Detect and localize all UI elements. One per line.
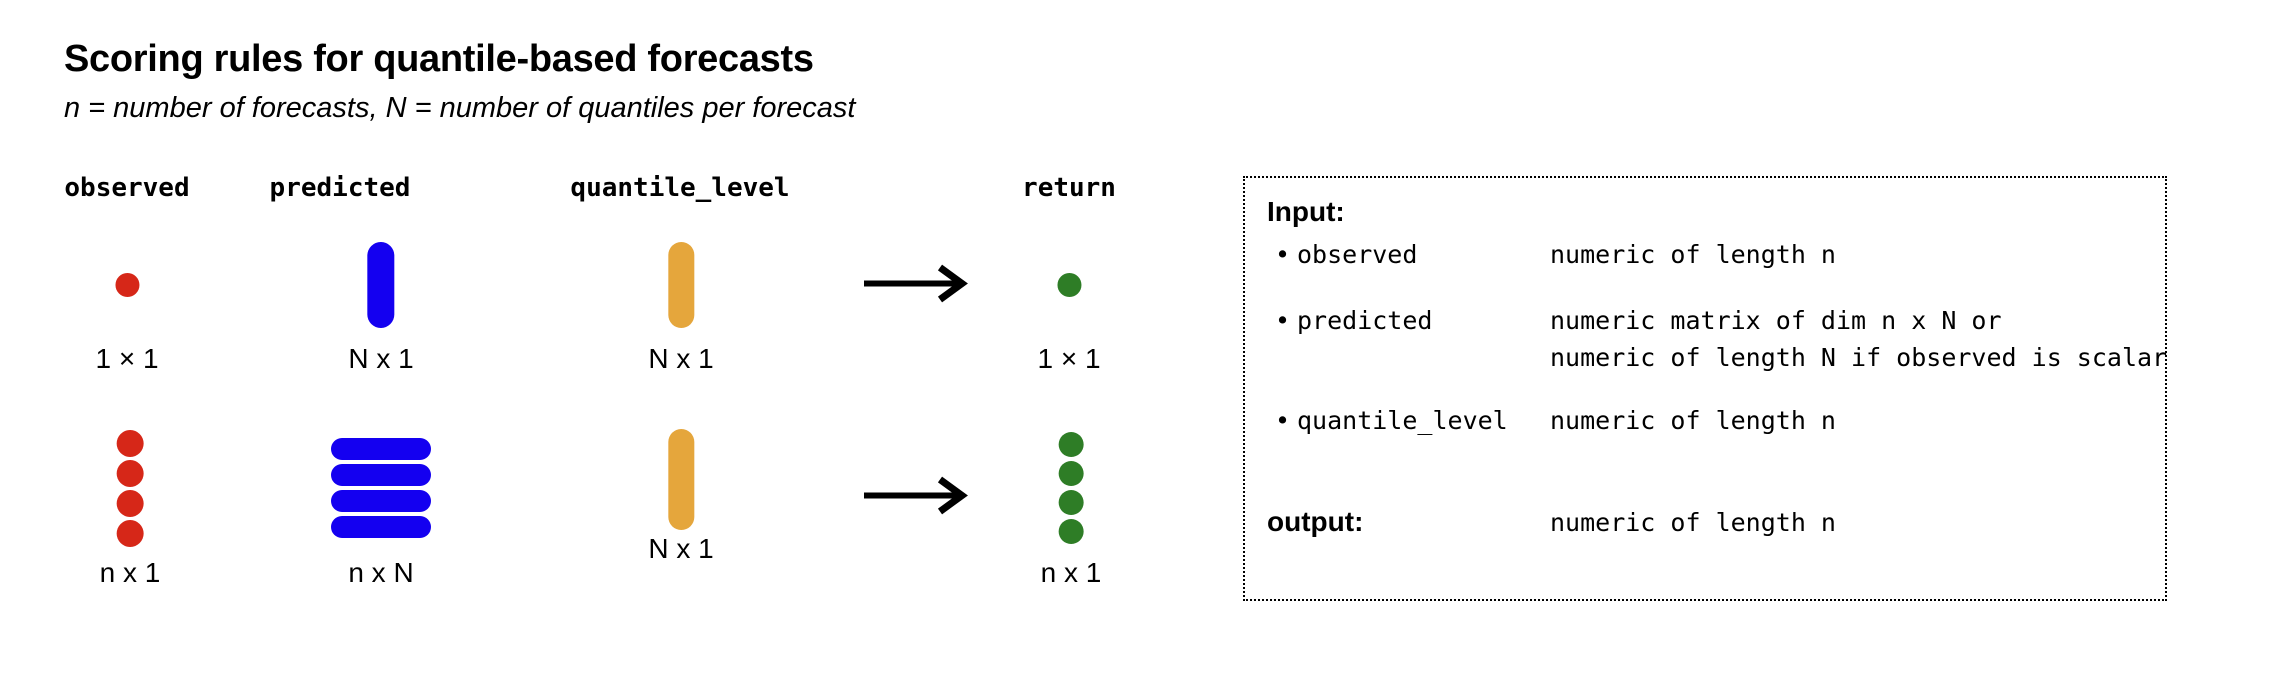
legend-input-heading: Input: xyxy=(1267,196,1345,228)
return-dot xyxy=(1058,432,1083,457)
row-2-arrow xyxy=(864,476,974,521)
row-1-arrow xyxy=(864,264,974,309)
legend-desc-predicted-line-2: numeric of length N if observed is scala… xyxy=(1550,343,2167,372)
legend-desc-predicted-line-1: numeric matrix of dim n x N or xyxy=(1550,306,2002,335)
row-2-quantile-level-shape xyxy=(668,428,694,531)
observed-dot xyxy=(116,520,143,547)
row-1-predicted-cell: N x 1 xyxy=(348,240,413,375)
legend-desc-quantile-level: numeric of length n xyxy=(1550,406,1836,435)
legend-term-observed: observed xyxy=(1297,240,1417,269)
row-1-return-shape xyxy=(1057,240,1081,330)
row-2-predicted-cell: n x N xyxy=(331,428,431,589)
quantile-level-bar xyxy=(668,429,694,530)
predicted-bar xyxy=(367,242,394,328)
legend-output-heading: output: xyxy=(1267,506,1363,538)
return-dot-stack xyxy=(1058,432,1083,544)
observed-dot xyxy=(116,460,143,487)
row-1-quantile-level-shape xyxy=(668,240,694,330)
row-1-quantile-level-label: N x 1 xyxy=(648,343,713,375)
legend-term-quantile-level: quantile_level xyxy=(1297,406,1508,435)
row-2-quantile-level-label: N x 1 xyxy=(648,533,713,565)
legend-desc-observed: numeric of length n xyxy=(1550,240,1836,269)
predicted-bar xyxy=(331,516,431,538)
row-1-observed-shape xyxy=(115,240,139,330)
row-2-return-cell: n x 1 xyxy=(1041,428,1102,589)
row-1-predicted-shape xyxy=(367,240,394,330)
row-2-predicted-label: n x N xyxy=(348,557,413,589)
predicted-bar-stack xyxy=(331,438,431,538)
legend-bullet: • xyxy=(1275,406,1290,435)
row-2-predicted-shape xyxy=(331,428,431,548)
row-1-observed-cell: 1 × 1 xyxy=(95,240,158,375)
row-2-return-shape xyxy=(1058,428,1083,548)
observed-dot xyxy=(116,430,143,457)
legend-box: Input: • observed numeric of length n • … xyxy=(1243,176,2167,601)
column-header-return: return xyxy=(1022,173,1116,203)
page-subtitle: n = number of forecasts, N = number of q… xyxy=(64,92,855,125)
return-dot xyxy=(1058,490,1083,515)
legend-term-predicted: predicted xyxy=(1297,306,1432,335)
observed-dot-stack xyxy=(116,430,143,547)
observed-dot xyxy=(115,273,139,297)
return-dot xyxy=(1058,519,1083,544)
diagram-canvas: Scoring rules for quantile-based forecas… xyxy=(0,0,2292,694)
predicted-bar xyxy=(331,490,431,512)
column-header-predicted: predicted xyxy=(270,173,411,203)
predicted-bar xyxy=(331,464,431,486)
row-1-observed-label: 1 × 1 xyxy=(95,343,158,375)
predicted-bar xyxy=(331,438,431,460)
row-2-observed-label: n x 1 xyxy=(100,557,161,589)
observed-dot xyxy=(116,490,143,517)
row-2-return-label: n x 1 xyxy=(1041,557,1102,589)
legend-bullet: • xyxy=(1275,240,1290,269)
row-1-predicted-label: N x 1 xyxy=(348,343,413,375)
arrow-right-icon xyxy=(864,476,974,516)
return-dot xyxy=(1057,273,1081,297)
column-header-quantile-level: quantile_level xyxy=(570,173,789,203)
row-1-return-label: 1 × 1 xyxy=(1037,343,1100,375)
row-1-quantile-level-cell: N x 1 xyxy=(648,240,713,375)
row-2-observed-cell: n x 1 xyxy=(100,428,161,589)
page-title: Scoring rules for quantile-based forecas… xyxy=(64,38,814,81)
row-2-quantile-level-cell: N x 1 xyxy=(648,428,713,565)
quantile-level-bar xyxy=(668,242,694,328)
legend-bullet: • xyxy=(1275,306,1290,335)
column-header-observed: observed xyxy=(64,173,189,203)
row-1-return-cell: 1 × 1 xyxy=(1037,240,1100,375)
arrow-right-icon xyxy=(864,264,974,304)
row-2-observed-shape xyxy=(116,428,143,548)
return-dot xyxy=(1058,461,1083,486)
legend-desc-output: numeric of length n xyxy=(1550,508,1836,537)
